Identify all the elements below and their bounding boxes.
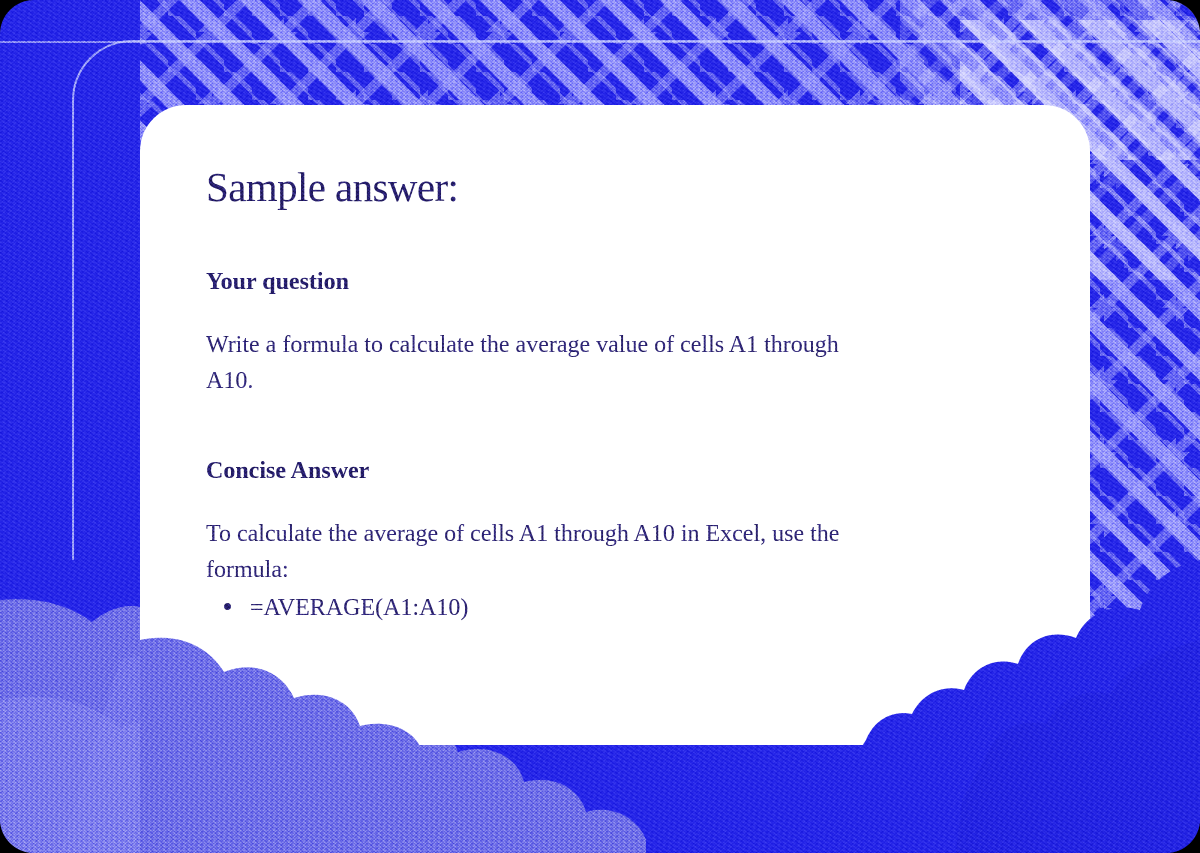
section-spacer [206, 399, 906, 457]
question-text: Write a formula to calculate the average… [206, 327, 846, 399]
page-title: Sample answer: [206, 165, 906, 210]
bullet-dot-icon [224, 603, 231, 610]
section-heading-question: Your question [206, 268, 906, 297]
top-divider-line [0, 41, 1200, 43]
answer-card: Sample answer: Your question Write a for… [140, 105, 1090, 745]
answer-text: To calculate the average of cells A1 thr… [206, 516, 846, 588]
list-item: =AVERAGE(A1:A10) [250, 590, 906, 626]
poster-canvas: Sample answer: Your question Write a for… [0, 0, 1200, 853]
card-body: Sample answer: Your question Write a for… [206, 165, 906, 626]
answer-bullet-list: =AVERAGE(A1:A10) [206, 590, 906, 626]
formula-text: =AVERAGE(A1:A10) [250, 595, 468, 621]
section-heading-answer: Concise Answer [206, 457, 906, 486]
diagonal-blocks-pattern-top [180, 0, 1200, 120]
